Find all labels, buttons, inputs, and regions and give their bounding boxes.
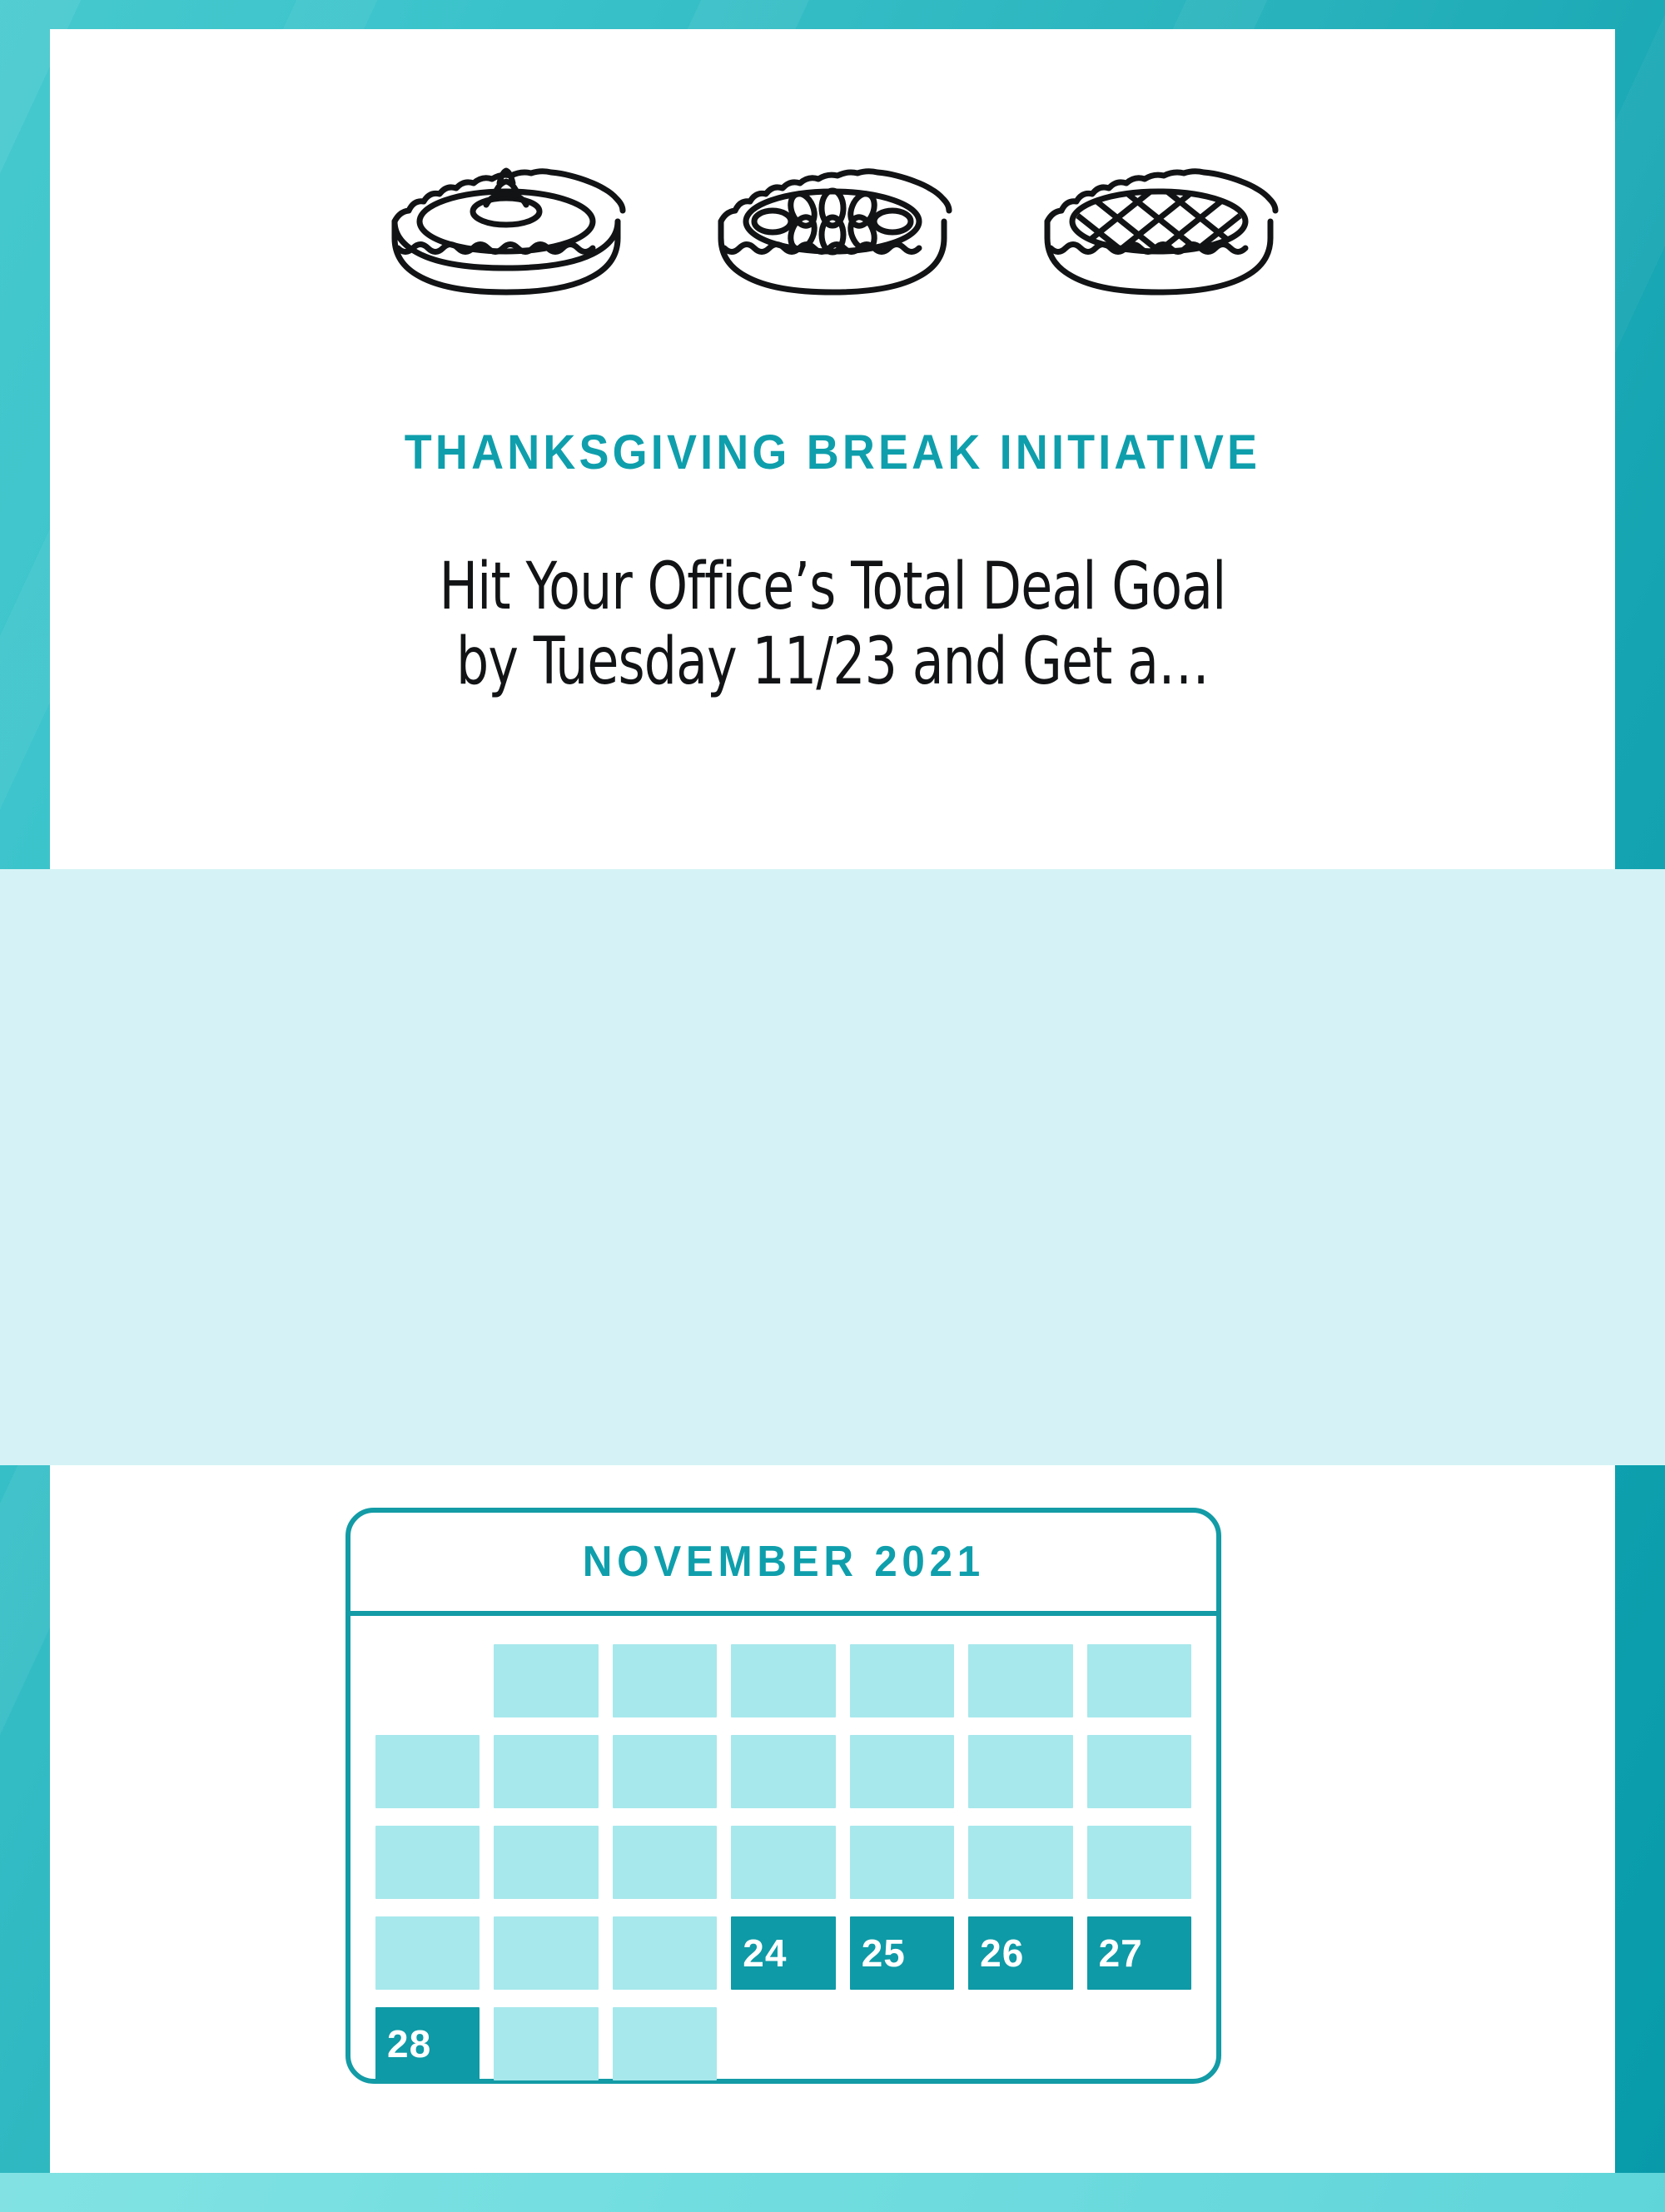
calendar-cell[interactable] [968, 1826, 1072, 1899]
lattice-pie-icon [1026, 150, 1292, 308]
calendar-day-highlighted[interactable]: 24 [731, 1916, 835, 1990]
calendar-cell-empty [1087, 2007, 1191, 2080]
calendar-cell[interactable] [1087, 1735, 1191, 1808]
kicker-label: THANKSGIVING BREAK INITIATIVE [105, 425, 1560, 480]
calendar-cell[interactable] [1087, 1826, 1191, 1899]
calendar-cell[interactable] [731, 1644, 835, 1717]
calendar-cell[interactable] [850, 1826, 954, 1899]
calendar-cell[interactable] [375, 1735, 480, 1808]
calendar-cell[interactable] [375, 1826, 480, 1899]
calendar-cell[interactable] [850, 1644, 954, 1717]
calendar-cell[interactable] [1087, 1644, 1191, 1717]
calendar-cell[interactable] [613, 1826, 717, 1899]
pecan-pie-icon [699, 150, 966, 308]
calendar-cell[interactable] [968, 1735, 1072, 1808]
calendar-cell[interactable] [613, 1644, 717, 1717]
calendar-cell[interactable] [731, 1826, 835, 1899]
page-title: Hit Your Office’s Total Deal Goal by Tue… [144, 549, 1521, 700]
calendar-title: NOVEMBER 2021 [582, 1537, 984, 1587]
calendar-day-highlighted[interactable]: 27 [1087, 1916, 1191, 1990]
calendar-cell[interactable] [375, 1916, 480, 1990]
calendar-day-highlighted[interactable]: 25 [850, 1916, 954, 1990]
calendar-cell[interactable] [613, 2007, 717, 2080]
calendar-cell-empty [968, 2007, 1072, 2080]
calendar-cell[interactable] [613, 1735, 717, 1808]
headline-line-2: by Tuesday 11/23 and Get a… [144, 624, 1521, 699]
calendar-cell-empty [850, 2007, 954, 2080]
footer-band [0, 2173, 1665, 2212]
calendar-cell-empty [375, 1644, 480, 1717]
calendar-cell[interactable] [494, 1916, 598, 1990]
calendar-cell[interactable] [494, 1826, 598, 1899]
calendar-cell[interactable] [850, 1735, 954, 1808]
calendar-cell[interactable] [731, 1735, 835, 1808]
header-card: THANKSGIVING BREAK INITIATIVE Hit Your O… [50, 29, 1615, 870]
calendar-day-highlighted[interactable]: 28 [375, 2007, 480, 2080]
headline-line-1: Hit Your Office’s Total Deal Goal [144, 549, 1521, 624]
calendar-day-highlighted[interactable]: 26 [968, 1916, 1072, 1990]
calendar-cell[interactable] [968, 1644, 1072, 1717]
calendar-grid: 2425262728 [350, 1616, 1216, 2080]
pumpkin-pie-icon [373, 150, 639, 308]
calendar-cell[interactable] [494, 2007, 598, 2080]
calendar-cell[interactable] [494, 1735, 598, 1808]
slide-canvas: THANKSGIVING BREAK INITIATIVE Hit Your O… [0, 0, 1665, 2212]
calendar-header: NOVEMBER 2021 [350, 1513, 1216, 1616]
calendar-cell-empty [731, 2007, 835, 2080]
calendar-cell[interactable] [613, 1916, 717, 1990]
november-calendar: NOVEMBER 2021 2425262728 [345, 1508, 1221, 2084]
pie-illustration-group [50, 146, 1615, 312]
content-band [0, 869, 1665, 1465]
calendar-cell[interactable] [494, 1644, 598, 1717]
